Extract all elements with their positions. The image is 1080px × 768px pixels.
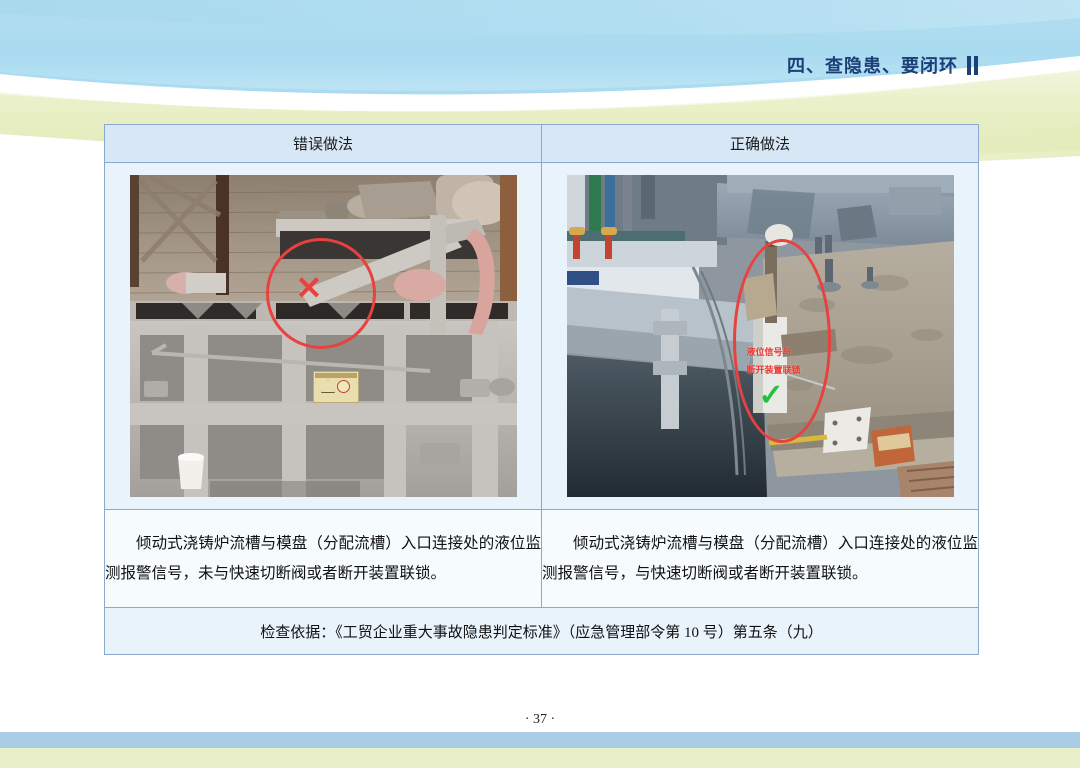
bottom-stripe-green [0, 748, 1080, 768]
safety-warning-placard [313, 371, 359, 403]
page-number: · 37 · [0, 712, 1080, 728]
bottom-decorative-stripes [0, 732, 1080, 768]
caption-cell-correct: 倾动式浇铸炉流槽与模盘（分配流槽）入口连接处的液位监测报警信号，与快速切断阀或者… [542, 510, 979, 608]
photo-correct-practice: 液位信号与 断开装置联锁 ✓ [567, 175, 954, 497]
page-header-title: 四、查隐患、要闭环 [787, 52, 958, 78]
photo-cell-correct: 液位信号与 断开装置联锁 ✓ [542, 163, 979, 510]
prohibition-circle-icon [337, 380, 350, 393]
table-caption-row: 倾动式浇铸炉流槽与模盘（分配流槽）入口连接处的液位监测报警信号，未与快速切断阀或… [105, 510, 979, 608]
placard-icons [314, 379, 358, 393]
header-bars-icon [967, 56, 978, 75]
table-basis-row: 检查依据：《工贸企业重大事故隐患判定标准》（应急管理部令第 10 号）第五条（九… [105, 608, 979, 655]
caption-cell-wrong: 倾动式浇铸炉流槽与模盘（分配流槽）入口连接处的液位监测报警信号，未与快速切断阀或… [105, 510, 542, 608]
page-header: 四、查隐患、要闭环 [787, 52, 978, 78]
header-cell-wrong: 错误做法 [105, 125, 542, 163]
comparison-table: 错误做法 正确做法 [104, 124, 979, 655]
inspection-basis-text: 检查依据：《工贸企业重大事故隐患判定标准》（应急管理部令第 10 号）第五条（九… [105, 608, 979, 655]
header-cell-correct: 正确做法 [542, 125, 979, 163]
warning-triangle-icon [321, 380, 335, 393]
photo-wrong-practice: ✕ [130, 175, 517, 497]
photo-cell-wrong: ✕ [105, 163, 542, 510]
bottom-stripe-blue [0, 732, 1080, 748]
caption-text-wrong: 倾动式浇铸炉流槽与模盘（分配流槽）入口连接处的液位监测报警信号，未与快速切断阀或… [105, 529, 541, 589]
caption-text-correct: 倾动式浇铸炉流槽与模盘（分配流槽）入口连接处的液位监测报警信号，与快速切断阀或者… [542, 529, 978, 589]
table-header-row: 错误做法 正确做法 [105, 125, 979, 163]
placard-title-bar [315, 373, 357, 378]
table-photo-row: ✕ [105, 163, 979, 510]
